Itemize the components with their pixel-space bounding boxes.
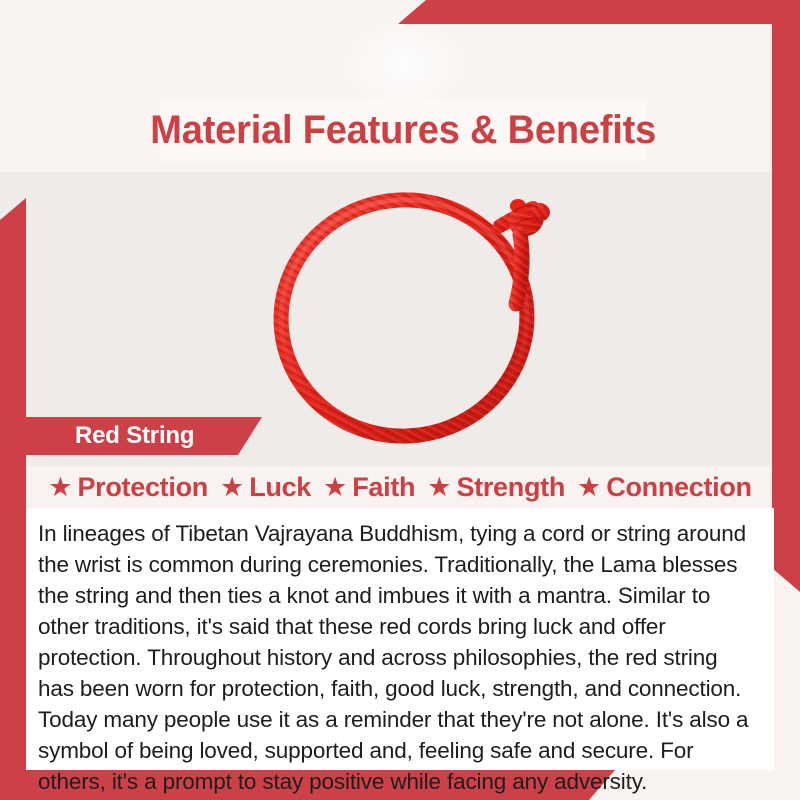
feature-label: Strength	[456, 472, 565, 503]
feature-label: Connection	[606, 472, 752, 503]
feature-label: Luck	[249, 472, 311, 503]
decor-bar-top	[398, 0, 800, 24]
description-text: In lineages of Tibetan Vajrayana Buddhis…	[38, 518, 758, 797]
page-title: Material Features & Benefits	[151, 108, 657, 153]
star-icon: ★	[323, 474, 347, 501]
feature-item-strength: ★ Strength	[421, 472, 571, 503]
feature-item-faith: ★ Faith	[317, 472, 421, 503]
description-card: In lineages of Tibetan Vajrayana Buddhis…	[26, 508, 774, 770]
star-icon: ★	[577, 474, 601, 501]
star-icon: ★	[48, 474, 72, 501]
star-icon: ★	[220, 474, 244, 501]
product-image	[252, 168, 572, 448]
decor-bar-right	[772, 0, 800, 592]
feature-item-luck: ★ Luck	[214, 472, 317, 503]
product-name-banner: Red String	[22, 417, 262, 455]
product-feature-poster: Material Features & Benefits	[0, 0, 800, 800]
decor-bar-left	[0, 198, 26, 800]
feature-item-connection: ★ Connection	[571, 472, 758, 503]
feature-list: ★ Protection ★ Luck ★ Faith ★ Strength ★…	[26, 466, 774, 508]
feature-item-protection: ★ Protection	[42, 472, 214, 503]
star-icon: ★	[427, 474, 451, 501]
feature-label: Faith	[352, 472, 415, 503]
feature-label: Protection	[77, 472, 208, 503]
product-name-label: Red String	[22, 422, 194, 450]
title-band: Material Features & Benefits	[160, 99, 647, 161]
